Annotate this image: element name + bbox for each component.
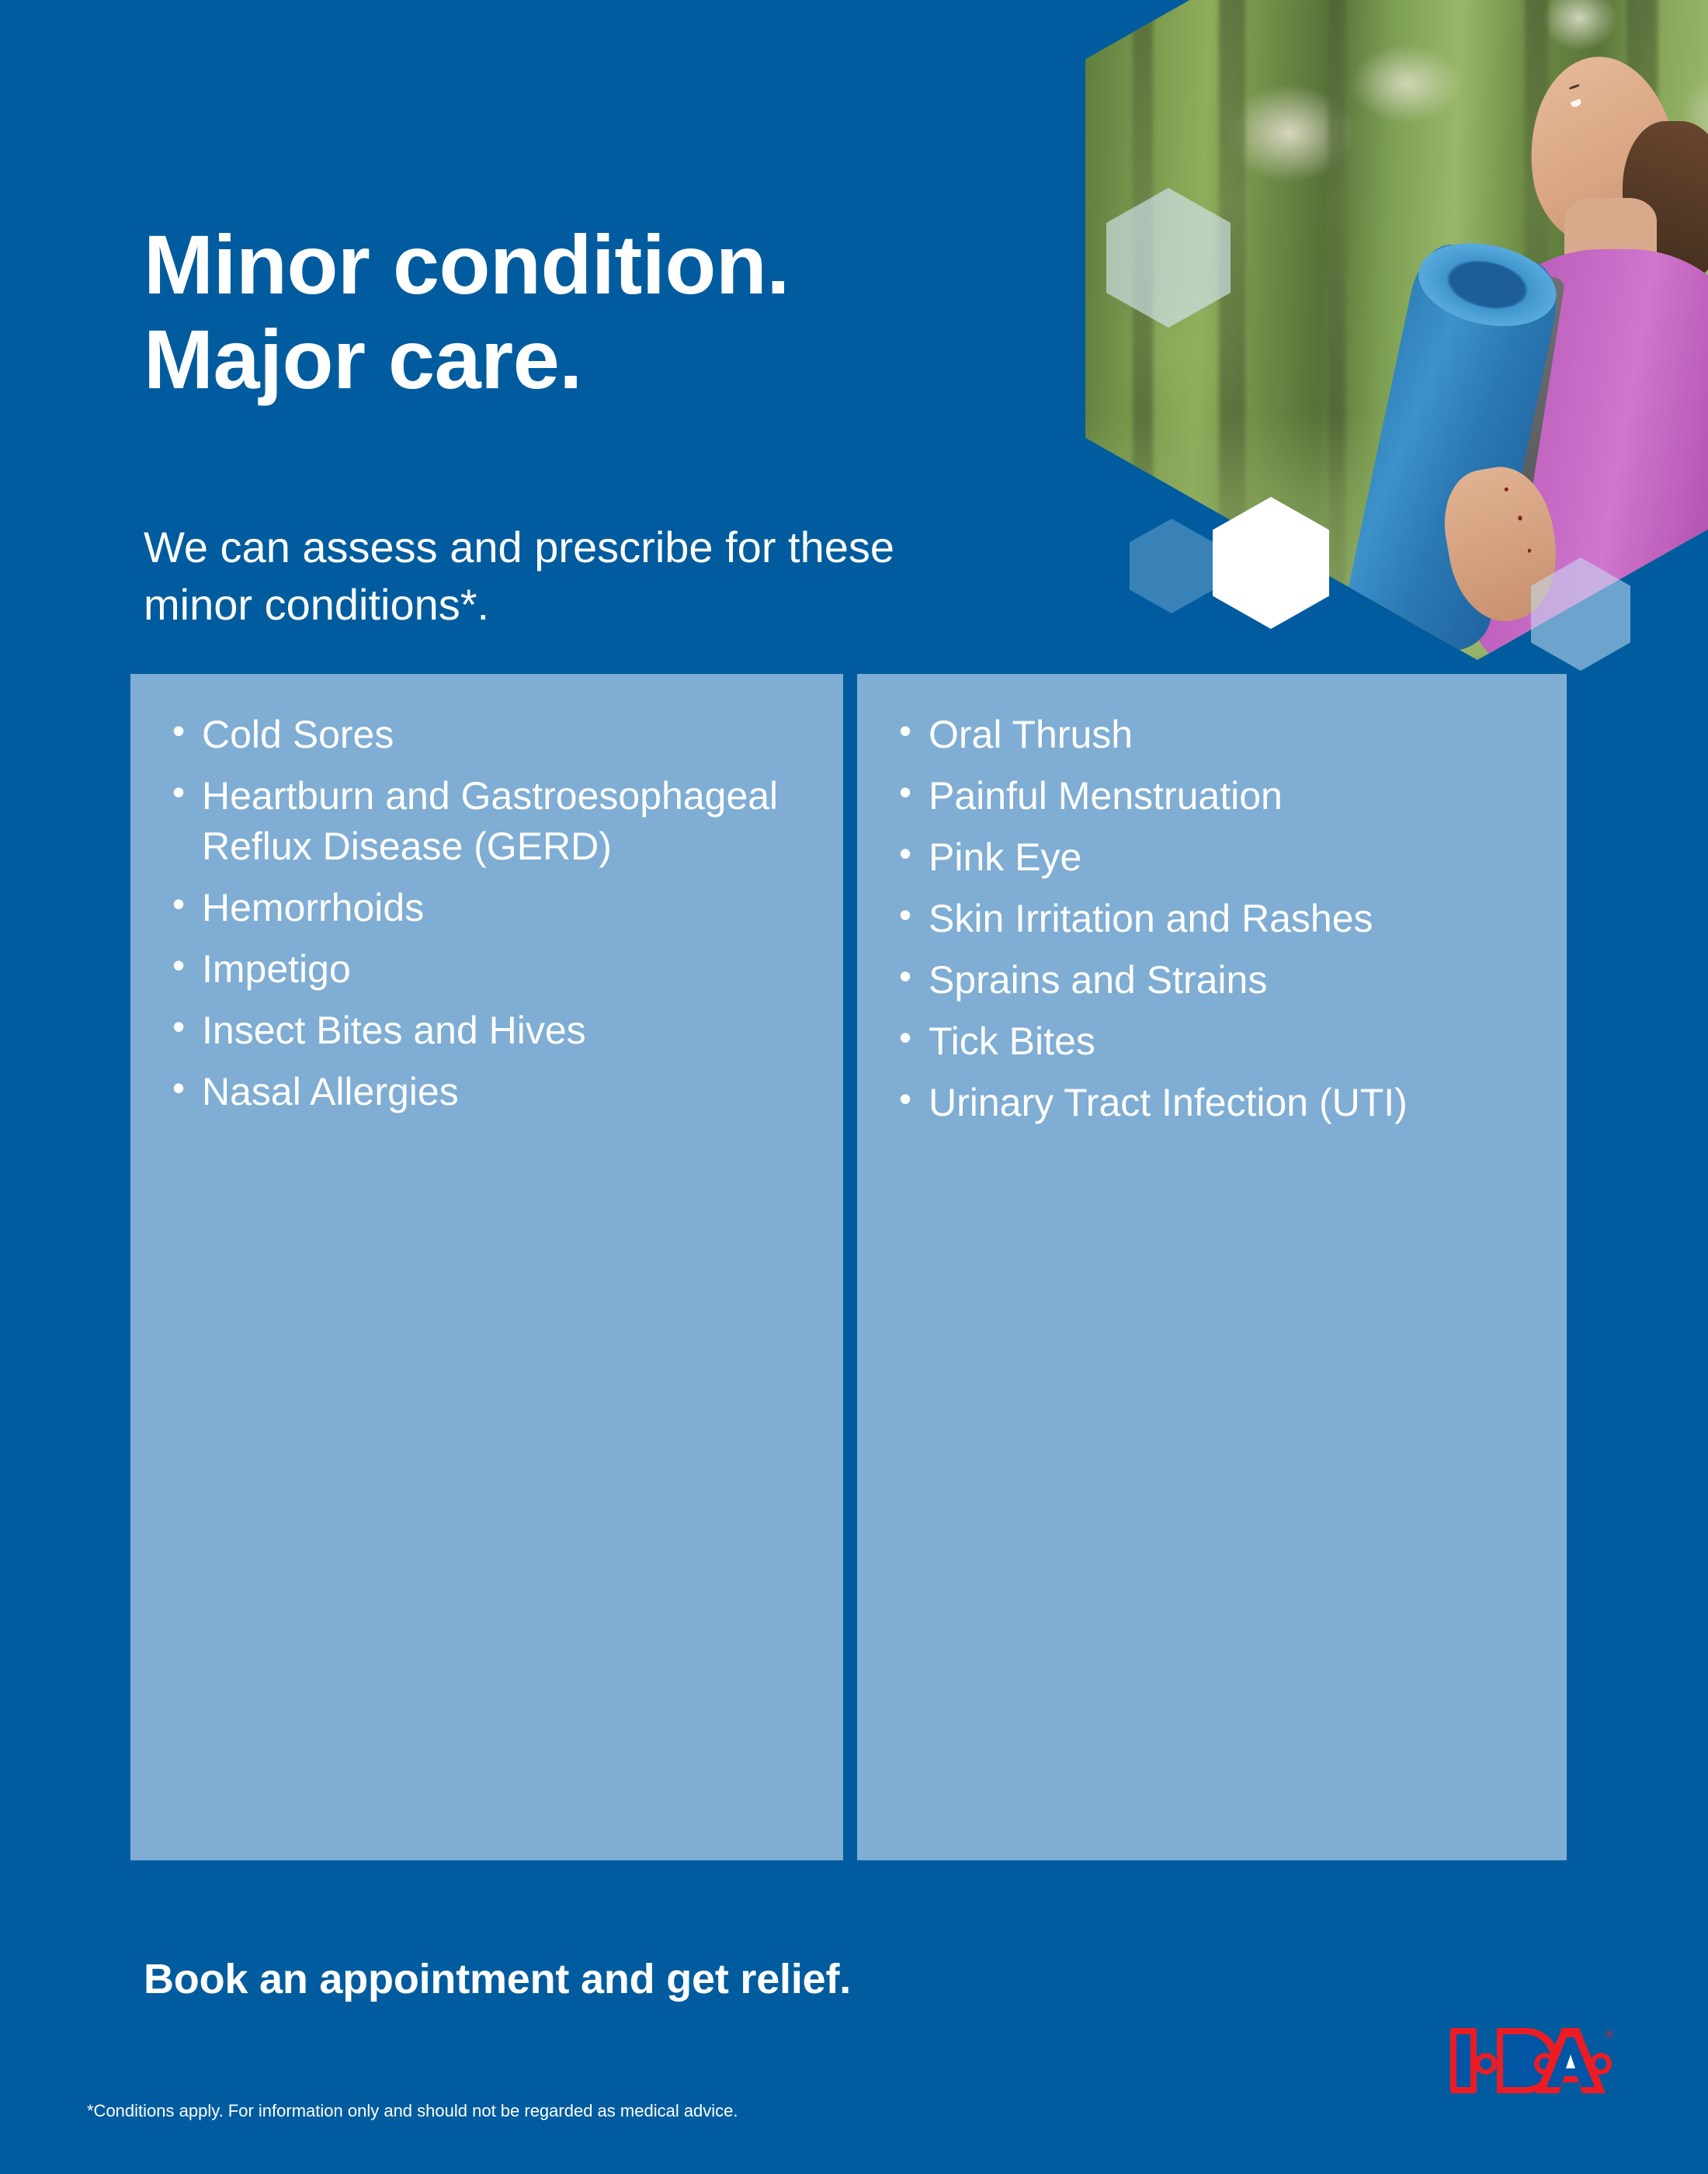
eyebrow (1569, 84, 1580, 89)
headline-line-2: Major care. (144, 318, 1075, 401)
subheadline: We can assess and prescribe for these mi… (144, 519, 1060, 634)
smile (1571, 98, 1582, 107)
yoga-mat-end (1411, 231, 1564, 339)
list-item: Tick Bites (879, 1016, 1545, 1067)
list-item: Urinary Tract Infection (UTI) (879, 1078, 1545, 1128)
headline-line-1: Minor condition. (144, 223, 1075, 307)
fingernail (1527, 549, 1531, 554)
registered-trademark-icon: ® (1606, 2028, 1613, 2040)
list-item: Heartburn and Gastroesophageal Reflux Di… (152, 771, 821, 872)
minor-ailments-poster: Minor condition. Major care. We can asse… (0, 0, 1708, 2174)
list-item: Skin Irritation and Rashes (879, 894, 1545, 944)
subheadline-line-2: minor conditions*. (144, 576, 1060, 634)
conditions-list-right: Oral Thrush Painful Menstruation Pink Ey… (879, 710, 1545, 1128)
subheadline-line-1: We can assess and prescribe for these (144, 519, 1060, 576)
list-item: Oral Thrush (879, 710, 1545, 760)
list-item: Nasal Allergies (152, 1067, 821, 1117)
list-item: Pink Eye (879, 832, 1545, 883)
page-title: Minor condition. Major care. (144, 223, 1075, 401)
hex-translucent-mid-icon (1130, 519, 1213, 613)
ida-logo: ® (1446, 2020, 1618, 2101)
list-item: Insect Bites and Hives (152, 1005, 821, 1056)
disclaimer-text: *Conditions apply. For information only … (87, 2101, 738, 2121)
conditions-list-left: Cold Sores Heartburn and Gastroesophagea… (152, 710, 821, 1117)
list-item: Impetigo (152, 944, 821, 995)
conditions-panel-right: Oral Thrush Painful Menstruation Pink Ey… (857, 674, 1567, 1860)
conditions-panel-left: Cold Sores Heartburn and Gastroesophagea… (130, 674, 843, 1860)
fingernail (1504, 487, 1508, 491)
conditions-panels: Cold Sores Heartburn and Gastroesophagea… (130, 674, 1567, 1860)
woman-figure (1399, 18, 1708, 660)
list-item: Painful Menstruation (879, 771, 1545, 821)
list-item: Cold Sores (152, 710, 821, 760)
fingernail (1518, 516, 1522, 520)
cta-text: Book an appointment and get relief. (144, 1955, 851, 2003)
list-item: Hemorrhoids (152, 883, 821, 933)
list-item: Sprains and Strains (879, 955, 1545, 1005)
